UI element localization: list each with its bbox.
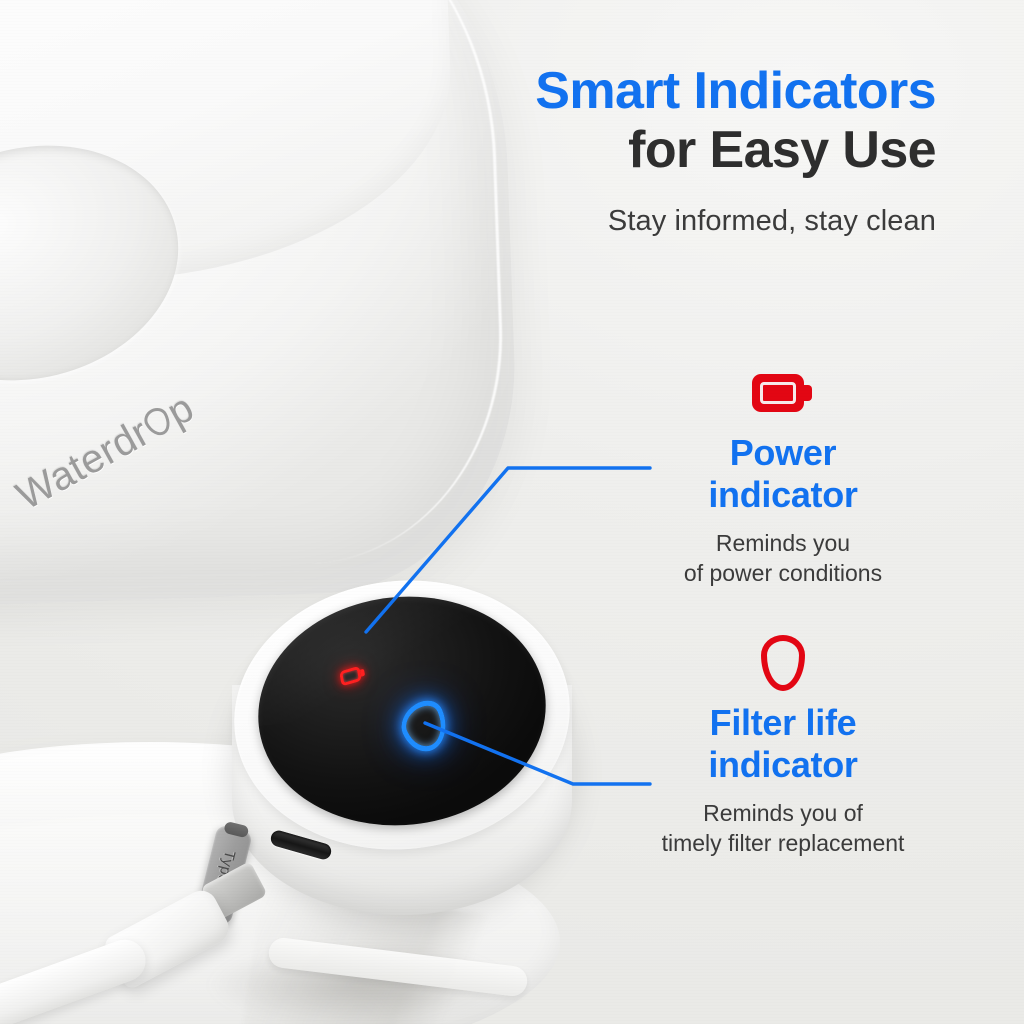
battery-icon bbox=[752, 374, 814, 412]
callout-filter-desc-line-1: Reminds you of bbox=[703, 800, 863, 826]
callout-filter-title-line-1: Filter life bbox=[710, 702, 857, 743]
headline-line-2: for Easy Use bbox=[535, 121, 936, 180]
callout-filter-description: Reminds you of timely filter replacement bbox=[618, 799, 948, 859]
page-title: Smart Indicators for Easy Use bbox=[535, 62, 936, 181]
headline-block: Smart Indicators for Easy Use Stay infor… bbox=[535, 62, 936, 238]
callout-power-description: Reminds you of power conditions bbox=[618, 529, 948, 589]
water-drop-icon bbox=[761, 635, 805, 691]
battery-icon-wrap bbox=[618, 362, 948, 424]
indicator-module: Type-C bbox=[222, 565, 582, 955]
callout-power-indicator: Power indicator Reminds you of power con… bbox=[618, 362, 948, 589]
callout-filter-desc-line-2: timely filter replacement bbox=[662, 830, 905, 856]
callout-power-title: Power indicator bbox=[618, 432, 948, 517]
callout-power-desc-line-1: Reminds you bbox=[716, 530, 850, 556]
callout-filter-title: Filter life indicator bbox=[618, 702, 948, 787]
water-drop-icon-wrap bbox=[618, 632, 948, 694]
callout-power-desc-line-2: of power conditions bbox=[684, 560, 882, 586]
callout-power-title-line-1: Power bbox=[730, 432, 837, 473]
callout-filter-life-indicator: Filter life indicator Reminds you of tim… bbox=[618, 632, 948, 859]
pitcher-highlight bbox=[0, 0, 510, 583]
callout-power-title-line-2: indicator bbox=[708, 474, 857, 515]
panel-reflection bbox=[247, 583, 557, 729]
headline-subtitle: Stay informed, stay clean bbox=[535, 205, 936, 238]
callout-filter-title-line-2: indicator bbox=[708, 744, 857, 785]
headline-line-1: Smart Indicators bbox=[535, 62, 936, 121]
product-marketing-image: Waterdr p Ty bbox=[0, 0, 1024, 1024]
